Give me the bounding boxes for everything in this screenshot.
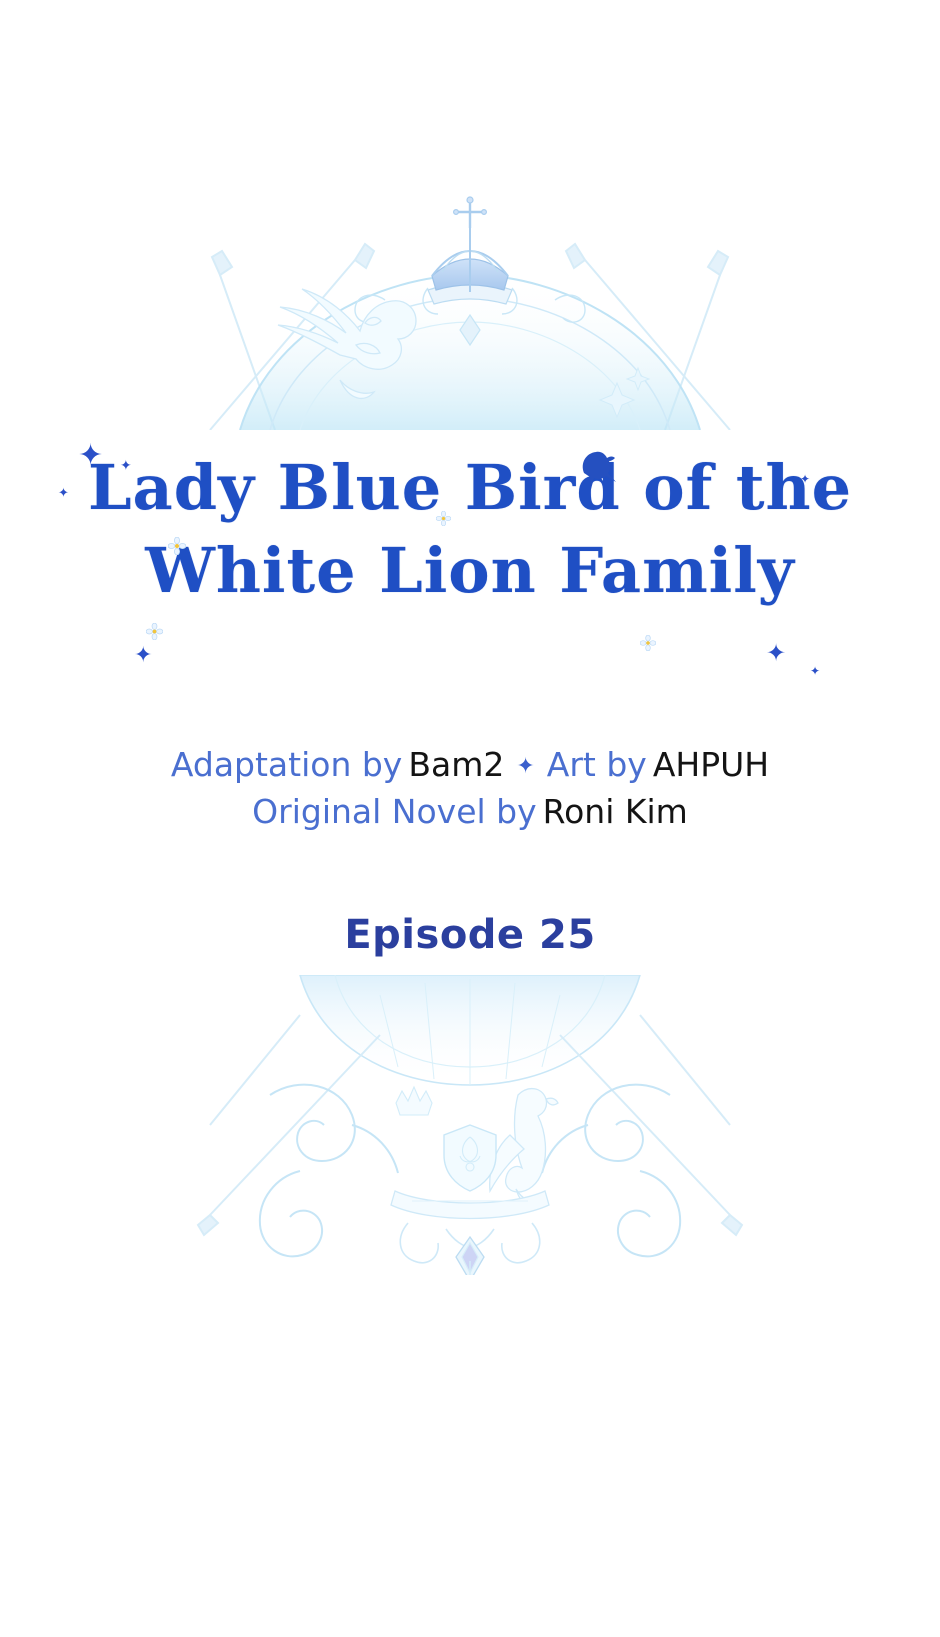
episode-number-heading: Episode 25 — [0, 912, 940, 958]
credits-block: Adaptation byBam2✦Art byAHPUH Original N… — [0, 742, 940, 836]
sparkle-icon: ✦ — [766, 641, 786, 665]
original-novel-name: Roni Kim — [543, 792, 688, 831]
credit-row-original-novel: Original Novel byRoni Kim — [0, 789, 940, 836]
heraldic-crest-top-ornament — [180, 180, 760, 430]
original-novel-label: Original Novel by — [252, 792, 536, 831]
flower-icon — [640, 635, 656, 656]
credit-row-adaptation-art: Adaptation byBam2✦Art byAHPUH — [0, 742, 940, 789]
credit-separator-icon: ✦ — [516, 754, 534, 779]
page-title-line-1: Lady Blue Bird of the — [0, 455, 940, 522]
adaptation-name: Bam2 — [408, 745, 504, 784]
art-name: AHPUH — [653, 745, 769, 784]
heraldic-crest-bottom-ornament — [150, 975, 790, 1275]
flower-icon — [146, 623, 163, 645]
art-label: Art by — [547, 745, 647, 784]
episode-title-page: ✦ ✦ ✦ ✦ ✦ Lady Blue Bird of the White Li… — [0, 0, 940, 1637]
sparkle-icon: ✦ — [810, 665, 820, 677]
adaptation-label: Adaptation by — [171, 745, 402, 784]
title-block: ✦ ✦ ✦ ✦ ✦ Lady Blue Bird of the White Li… — [0, 455, 940, 605]
page-title-line-2: White Lion Family — [0, 538, 940, 605]
sparkle-icon: ✦ — [134, 645, 152, 667]
